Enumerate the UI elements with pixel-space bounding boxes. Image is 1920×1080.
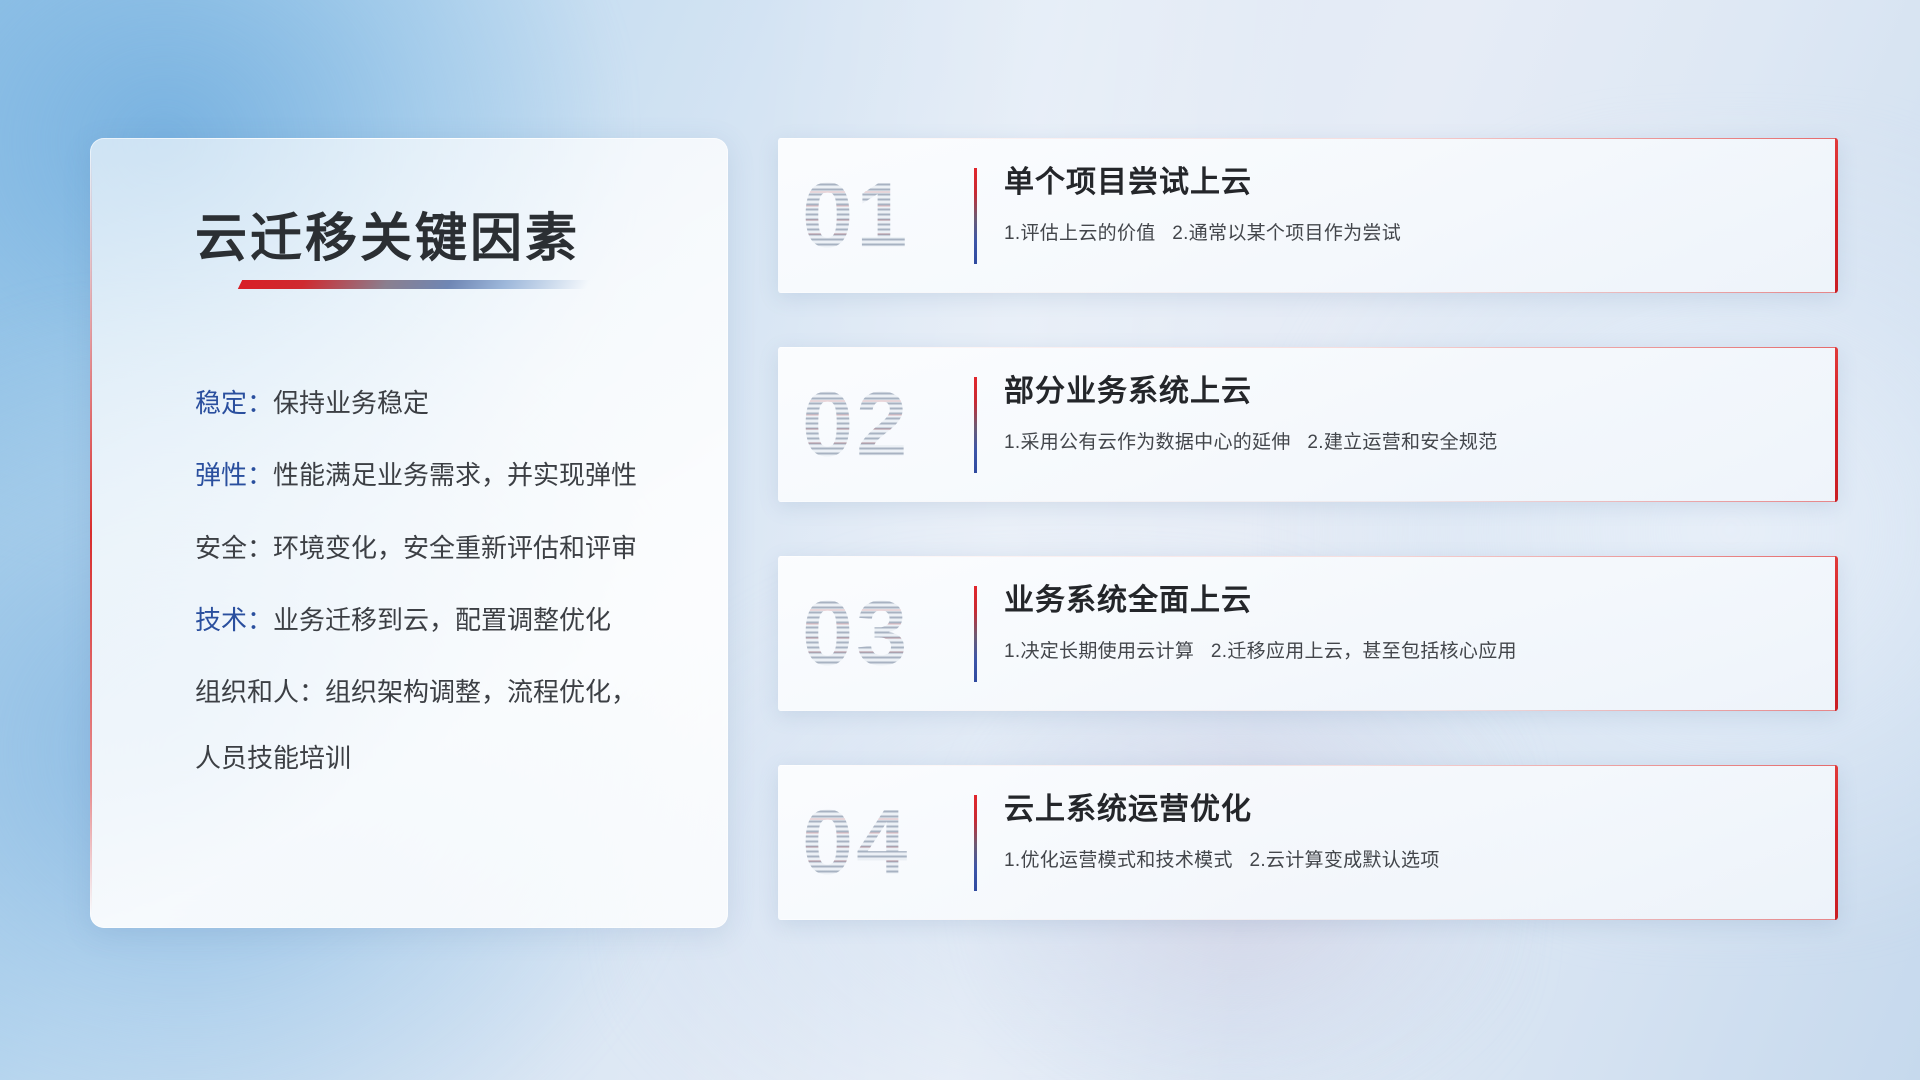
migration-steps-list: 01 01 01 单个项目尝试上云 1.评估上云的价值 2.通常以某个项目作为尝… [778, 138, 1838, 920]
step-body: 业务系统全面上云 1.决定长期使用云计算 2.迁移应用上云，甚至包括核心应用 [1004, 582, 1808, 663]
card-bottom-hairline [778, 501, 1838, 502]
card-right-accent-bar [1835, 556, 1838, 711]
card-bottom-hairline [778, 710, 1838, 711]
step-card-02[interactable]: 02 02 02 部分业务系统上云 1.采用公有云作为数据中心的延伸 2.建立运… [778, 347, 1838, 502]
step-number-red-tint: 03 [802, 581, 910, 686]
list-item-text: 保持业务稳定 [273, 388, 429, 418]
list-item: 稳定：保持业务稳定 [195, 386, 688, 421]
list-item-label: 安全： [195, 533, 273, 563]
list-item: 安全：环境变化，安全重新评估和评审 [195, 531, 688, 566]
step-subtitle: 1.评估上云的价值 2.通常以某个项目作为尝试 [1004, 218, 1808, 245]
step-number-red-tint: 02 [802, 372, 910, 477]
step-title: 云上系统运营优化 [1004, 791, 1808, 829]
key-factors-list: 稳定：保持业务稳定 弹性：性能满足业务需求，并实现弹性 安全：环境变化，安全重新… [195, 386, 688, 775]
step-body: 部分业务系统上云 1.采用公有云作为数据中心的延伸 2.建立运营和安全规范 [1004, 373, 1808, 454]
step-body: 云上系统运营优化 1.优化运营模式和技术模式 2.云计算变成默认选项 [1004, 791, 1808, 872]
list-item-text: 业务迁移到云，配置调整优化 [273, 605, 611, 635]
card-top-hairline [778, 347, 1838, 348]
step-title: 业务系统全面上云 [1004, 582, 1808, 620]
list-item: 弹性：性能满足业务需求，并实现弹性 [195, 458, 688, 493]
card-top-hairline [778, 138, 1838, 139]
step-card-03[interactable]: 03 03 03 业务系统全面上云 1.决定长期使用云计算 2.迁移应用上云，甚… [778, 556, 1838, 711]
card-right-accent-bar [1835, 765, 1838, 920]
step-divider-bar [974, 795, 977, 891]
list-item: 技术：业务迁移到云，配置调整优化 [195, 603, 688, 638]
key-factors-panel: 云迁移关键因素 稳定：保持业务稳定 弹性：性能满足业务需求，并实现弹性 安全：环… [90, 138, 728, 928]
step-number-red-tint: 04 [802, 790, 910, 895]
step-title: 单个项目尝试上云 [1004, 164, 1808, 202]
step-subtitle: 1.优化运营模式和技术模式 2.云计算变成默认选项 [1004, 845, 1808, 872]
list-item-label: 组织和人： [195, 677, 325, 707]
panel-left-accent-bar [90, 152, 92, 914]
page-title: 云迁移关键因素 [195, 196, 580, 271]
card-right-accent-bar [1835, 347, 1838, 502]
list-item-continuation: 人员技能培训 [195, 738, 688, 775]
step-divider-bar [974, 586, 977, 682]
list-item-text: 性能满足业务需求，并实现弹性 [273, 460, 637, 490]
card-top-hairline [778, 765, 1838, 766]
step-subtitle: 1.采用公有云作为数据中心的延伸 2.建立运营和安全规范 [1004, 427, 1808, 454]
step-subtitle: 1.决定长期使用云计算 2.迁移应用上云，甚至包括核心应用 [1004, 636, 1808, 663]
list-item-label: 稳定： [195, 388, 273, 418]
step-number-red-tint: 01 [802, 163, 910, 268]
card-bottom-hairline [778, 919, 1838, 920]
list-item-text: 组织架构调整，流程优化， [325, 677, 637, 707]
card-bottom-hairline [778, 292, 1838, 293]
panel-top-highlight [104, 138, 714, 139]
step-card-01[interactable]: 01 01 01 单个项目尝试上云 1.评估上云的价值 2.通常以某个项目作为尝… [778, 138, 1838, 293]
step-card-04[interactable]: 04 04 04 云上系统运营优化 1.优化运营模式和技术模式 2.云计算变成默… [778, 765, 1838, 920]
card-right-accent-bar [1835, 138, 1838, 293]
step-divider-bar [974, 168, 977, 264]
list-item: 组织和人：组织架构调整，流程优化， [195, 675, 688, 710]
title-underline-rule [238, 280, 590, 289]
list-item-label: 弹性： [195, 460, 273, 490]
step-divider-bar [974, 377, 977, 473]
list-item-label: 技术： [195, 605, 273, 635]
step-title: 部分业务系统上云 [1004, 373, 1808, 411]
list-item-text: 环境变化，安全重新评估和评审 [273, 533, 637, 563]
step-body: 单个项目尝试上云 1.评估上云的价值 2.通常以某个项目作为尝试 [1004, 164, 1808, 245]
card-top-hairline [778, 556, 1838, 557]
